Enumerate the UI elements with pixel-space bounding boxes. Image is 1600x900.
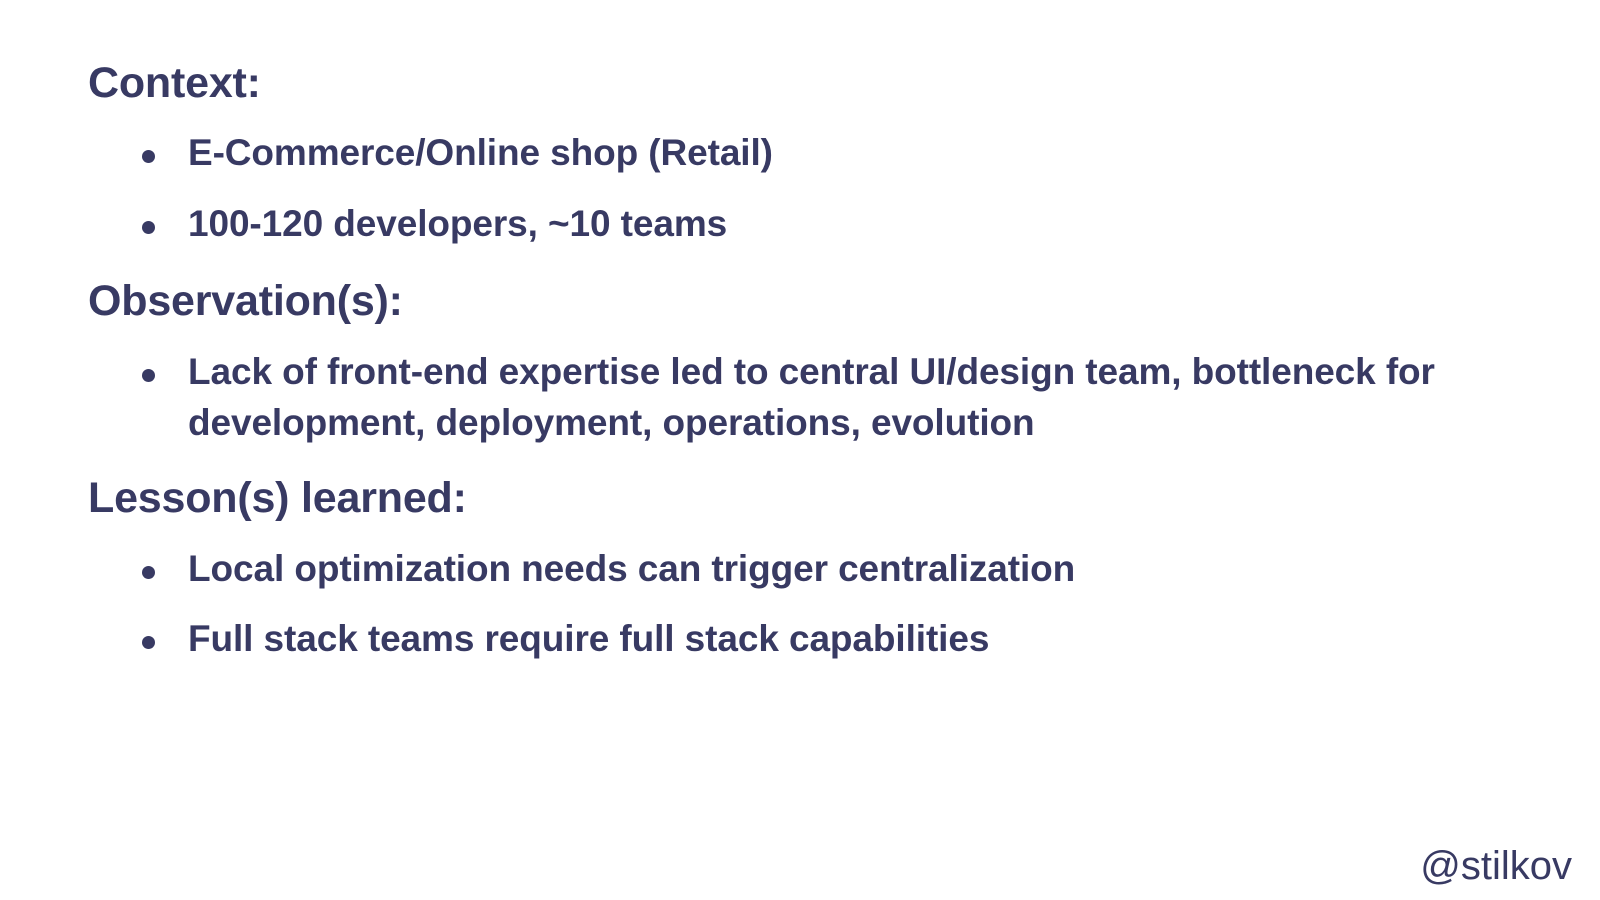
slide-content: Context: E-Commerce/Online shop (Retail)… [88, 62, 1508, 665]
bullet-dot-icon [142, 369, 155, 382]
list-item-label: Lack of front-end expertise led to centr… [188, 351, 1435, 443]
list-item-label: Full stack teams require full stack capa… [188, 618, 989, 659]
section-lessons-learned: Lesson(s) learned: Local optimization ne… [88, 477, 1508, 665]
slide-canvas: Context: E-Commerce/Online shop (Retail)… [0, 0, 1600, 900]
section-heading-context: Context: [88, 62, 1508, 105]
list-item-label: Local optimization needs can trigger cen… [188, 548, 1075, 589]
author-handle-watermark: @stilkov [1420, 846, 1572, 886]
bullet-list-context: E-Commerce/Online shop (Retail) 100-120 … [88, 127, 1508, 250]
list-item: Lack of front-end expertise led to centr… [88, 346, 1508, 449]
section-observations: Observation(s): Lack of front-end expert… [88, 280, 1508, 449]
list-item: 100-120 developers, ~10 teams [88, 198, 1508, 249]
list-item: Full stack teams require full stack capa… [88, 613, 1508, 664]
section-heading-lessons-learned: Lesson(s) learned: [88, 477, 1508, 520]
bullet-dot-icon [142, 221, 155, 234]
bullet-list-lessons-learned: Local optimization needs can trigger cen… [88, 543, 1508, 665]
bullet-dot-icon [142, 636, 155, 649]
bullet-dot-icon [142, 150, 155, 163]
list-item: E-Commerce/Online shop (Retail) [88, 127, 1508, 178]
bullet-dot-icon [142, 566, 155, 579]
section-heading-observations: Observation(s): [88, 280, 1508, 323]
bullet-list-observations: Lack of front-end expertise led to centr… [88, 346, 1508, 449]
list-item-label: E-Commerce/Online shop (Retail) [188, 132, 773, 173]
list-item: Local optimization needs can trigger cen… [88, 543, 1508, 594]
list-item-label: 100-120 developers, ~10 teams [188, 203, 727, 244]
section-context: Context: E-Commerce/Online shop (Retail)… [88, 62, 1508, 250]
